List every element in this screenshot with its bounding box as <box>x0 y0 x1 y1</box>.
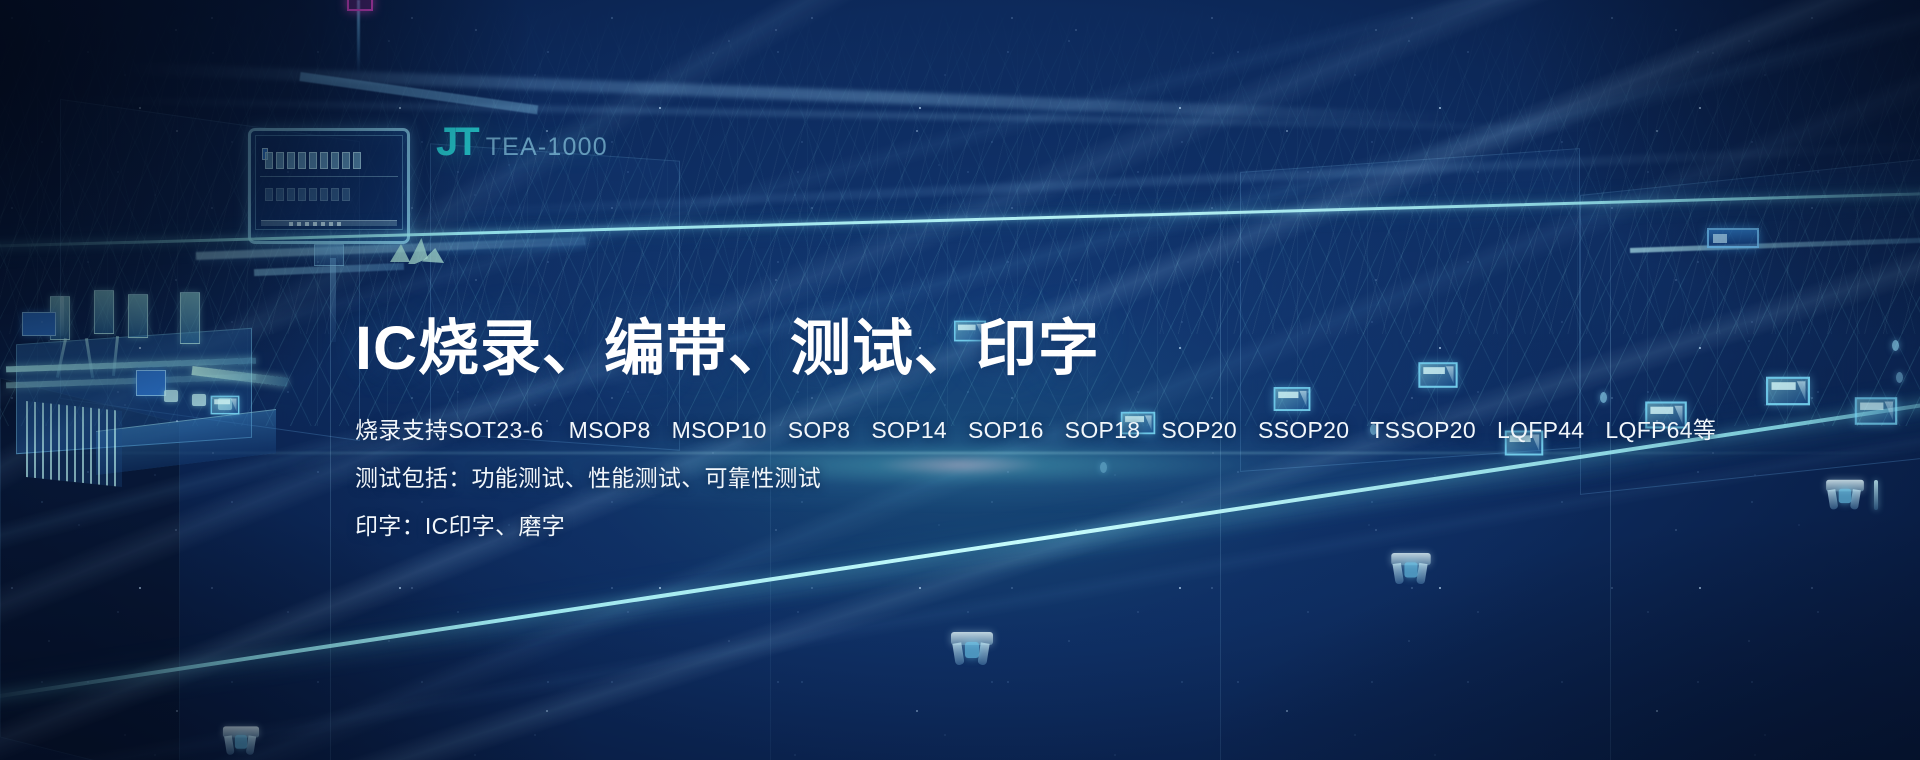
gripper-claw <box>1393 563 1405 585</box>
machine-nozzle <box>192 394 206 406</box>
machine-tower <box>180 292 200 344</box>
monitor-screen <box>255 135 403 230</box>
equipment-shelf <box>1630 238 1920 253</box>
control-console <box>1707 228 1759 248</box>
gripper-claw <box>224 735 235 755</box>
gripper-core <box>235 735 247 749</box>
support-pillar <box>60 296 64 336</box>
support-pillar <box>1874 480 1878 510</box>
package-chip: SOP20 <box>1161 406 1237 454</box>
ic-service-hero-banner: JT TEA-1000 <box>0 0 1920 760</box>
chip-tray <box>211 396 240 415</box>
ic-handler-machine <box>0 270 282 500</box>
chip-row <box>265 152 361 169</box>
gripper-core <box>1839 489 1852 503</box>
scan-line <box>260 176 398 177</box>
robot-gripper <box>1821 480 1870 511</box>
machine-nozzle <box>164 390 178 402</box>
chip-tray <box>1855 397 1897 425</box>
service-detail-list: 烧录支持SOT23-6 MSOP8 MSOP10 SOP8 SOP14 SOP1… <box>355 406 1716 550</box>
package-chip: LQFP64 <box>1605 406 1692 454</box>
test-scope-line: 测试包括：功能测试、性能测试、可靠性测试 <box>355 454 1716 502</box>
machine-badge: JT TEA-1000 <box>436 122 608 162</box>
package-chip: TSSOP20 <box>1370 406 1476 454</box>
indicator-dot <box>1892 340 1899 351</box>
burn-support-lead: 烧录支持SOT23-6 <box>355 406 544 454</box>
ceiling-beam <box>420 139 1920 219</box>
chip-row <box>265 188 350 201</box>
machine-tower <box>94 290 114 334</box>
rig-rod <box>357 0 360 74</box>
gripper-claw <box>1827 489 1838 510</box>
hero-copy-block: IC烧录、编带、测试、印字 烧录支持SOT23-6 MSOP8 MSOP10 S… <box>355 316 1716 550</box>
gripper-claw <box>977 642 989 665</box>
robot-gripper <box>1386 553 1437 585</box>
package-chip: LQFP44 <box>1497 406 1584 454</box>
machine-tower <box>128 294 148 338</box>
monitor-stand <box>314 244 344 266</box>
gripper-claw <box>246 735 257 755</box>
package-chip: MSOP8 <box>569 406 651 454</box>
package-list: 烧录支持SOT23-6 MSOP8 MSOP10 SOP8 SOP14 SOP1… <box>355 406 1716 454</box>
package-chip: SOP8 <box>788 406 851 454</box>
printing-scope-line: 印字：IC印字、磨字 <box>355 502 1716 550</box>
robot-gripper <box>945 632 999 666</box>
chip-tray <box>1766 377 1810 406</box>
machine-module <box>22 312 56 336</box>
package-chip: SOP18 <box>1065 406 1141 454</box>
screen-taskbar <box>261 220 397 226</box>
package-chip: SOP14 <box>871 406 947 454</box>
page-title: IC烧录、编带、测试、印字 <box>355 316 1716 382</box>
gripper-claw <box>1416 563 1428 585</box>
package-list-suffix: 等 <box>1693 406 1716 454</box>
machine-module <box>136 370 166 396</box>
gripper-core <box>965 642 979 658</box>
package-chip: MSOP10 <box>672 406 767 454</box>
package-chip: SOP16 <box>968 406 1044 454</box>
burn-support-line: 烧录支持SOT23-6 MSOP8 MSOP10 SOP8 SOP14 SOP1… <box>355 406 1716 454</box>
brand-logo-jt: JT <box>436 122 477 162</box>
gripper-claw <box>952 642 964 665</box>
gripper-core <box>1404 562 1417 577</box>
machine-magazine-fins <box>26 401 122 487</box>
machine-model-label: TEA-1000 <box>486 135 608 160</box>
robot-gripper <box>218 726 264 755</box>
crystal-cluster-icon <box>388 236 446 266</box>
wireframe-monitor <box>248 128 410 244</box>
indicator-dot <box>1896 372 1903 383</box>
gripper-claw <box>1850 489 1861 510</box>
package-chip: SSOP20 <box>1258 406 1349 454</box>
magenta-chip-icon <box>347 0 373 11</box>
